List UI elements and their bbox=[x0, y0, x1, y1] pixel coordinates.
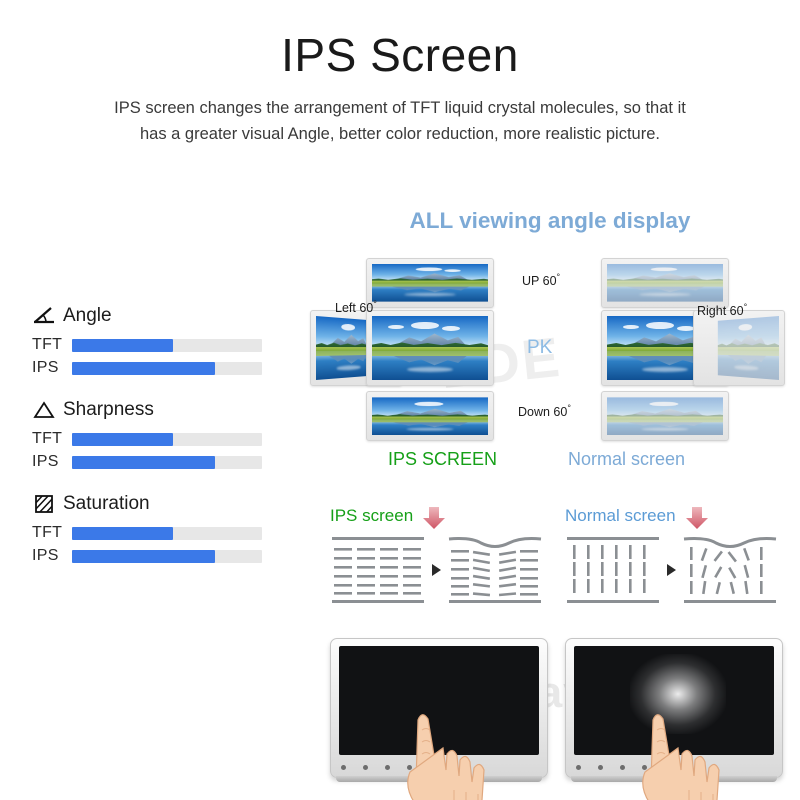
bar-track bbox=[72, 433, 262, 446]
bar-fill bbox=[72, 550, 215, 563]
triangle-icon bbox=[32, 399, 56, 421]
metric-angle: Angle TFT IPS bbox=[32, 305, 282, 377]
metrics-panel: Angle TFT IPS Sharpness bbox=[32, 305, 282, 587]
bar-row-ips: IPS bbox=[32, 453, 282, 471]
landscape-image bbox=[718, 316, 779, 380]
screen-up bbox=[601, 258, 729, 308]
viewing-angle-heading: ALL viewing angle display bbox=[330, 208, 770, 234]
bar-track bbox=[72, 527, 262, 540]
molecule-before bbox=[330, 533, 426, 607]
bar-track bbox=[72, 456, 262, 469]
bar-label: IPS bbox=[32, 453, 72, 471]
bar-fill bbox=[72, 527, 173, 540]
hand-pointing-icon bbox=[392, 690, 512, 800]
scattered-molecules-icon bbox=[682, 533, 778, 607]
molecule-panel-ips: IPS screen bbox=[330, 505, 555, 625]
caption-ips-screen: IPS SCREEN bbox=[388, 449, 497, 470]
play-arrow-icon bbox=[432, 564, 441, 576]
molecule-header: Normal screen bbox=[565, 505, 790, 531]
down-arrow-icon bbox=[684, 506, 710, 530]
curved-molecules-icon bbox=[447, 533, 543, 607]
molecule-diagram bbox=[565, 533, 790, 607]
screen-up bbox=[366, 258, 494, 308]
device-button[interactable] bbox=[620, 765, 625, 770]
bar-row-tft: TFT bbox=[32, 430, 282, 448]
molecule-title: Normal screen bbox=[565, 506, 676, 526]
down-arrow-icon bbox=[421, 506, 447, 530]
bar-fill bbox=[72, 456, 215, 469]
device-button[interactable] bbox=[341, 765, 346, 770]
ips-screen-infographic: IPS Screen IPS screen changes the arrang… bbox=[0, 0, 800, 800]
hatch-square-icon bbox=[32, 493, 56, 515]
normal-device bbox=[565, 638, 783, 778]
caption-normal-screen: Normal screen bbox=[568, 449, 685, 470]
bar-row-ips: IPS bbox=[32, 359, 282, 377]
bar-row-ips: IPS bbox=[32, 547, 282, 565]
ips-screen-cross bbox=[310, 258, 550, 438]
bar-fill bbox=[72, 339, 173, 352]
metric-header: Sharpness bbox=[32, 399, 282, 421]
landscape-image bbox=[372, 264, 488, 302]
metric-saturation: Saturation TFT IPS bbox=[32, 493, 282, 565]
molecule-header: IPS screen bbox=[330, 505, 555, 531]
metric-label: Sharpness bbox=[63, 399, 154, 421]
metric-header: Angle bbox=[32, 305, 282, 327]
molecule-title: IPS screen bbox=[330, 506, 413, 526]
molecule-diagram bbox=[330, 533, 555, 607]
angle-icon bbox=[32, 305, 56, 327]
screen-down bbox=[601, 391, 729, 441]
landscape-image bbox=[372, 316, 488, 380]
molecule-panel-normal: Normal screen bbox=[565, 505, 790, 625]
page-title: IPS Screen bbox=[0, 28, 800, 82]
bar-track bbox=[72, 339, 262, 352]
bar-label: TFT bbox=[32, 524, 72, 542]
horizontal-molecules-icon bbox=[330, 533, 426, 607]
bar-label: TFT bbox=[32, 336, 72, 354]
play-arrow-icon bbox=[667, 564, 676, 576]
label-left-60: Left 60° bbox=[335, 299, 377, 315]
screen-right bbox=[693, 310, 785, 386]
device-button[interactable] bbox=[576, 765, 581, 770]
bar-track bbox=[72, 550, 262, 563]
label-right-60: Right 60° bbox=[697, 302, 747, 318]
ips-device bbox=[330, 638, 548, 778]
metric-sharpness: Sharpness TFT IPS bbox=[32, 399, 282, 471]
landscape-image bbox=[372, 397, 488, 435]
molecule-after bbox=[682, 533, 778, 607]
screen-down bbox=[366, 391, 494, 441]
metric-label: Angle bbox=[63, 305, 112, 327]
device-button[interactable] bbox=[385, 765, 390, 770]
bar-label: TFT bbox=[32, 430, 72, 448]
landscape-image bbox=[607, 264, 723, 302]
bar-track bbox=[72, 362, 262, 375]
vertical-molecules-icon bbox=[565, 533, 661, 607]
bar-row-tft: TFT bbox=[32, 524, 282, 542]
molecule-after bbox=[447, 533, 543, 607]
page-description: IPS screen changes the arrangement of TF… bbox=[100, 96, 700, 147]
device-button[interactable] bbox=[363, 765, 368, 770]
bar-fill bbox=[72, 433, 173, 446]
normal-screen-cross bbox=[545, 258, 785, 438]
landscape-image bbox=[607, 397, 723, 435]
bar-label: IPS bbox=[32, 359, 72, 377]
screen-center bbox=[366, 310, 494, 386]
device-button[interactable] bbox=[598, 765, 603, 770]
hand-pointing-icon bbox=[627, 690, 747, 800]
molecule-before bbox=[565, 533, 661, 607]
metric-label: Saturation bbox=[63, 493, 150, 515]
bar-row-tft: TFT bbox=[32, 336, 282, 354]
bar-fill bbox=[72, 362, 215, 375]
metric-header: Saturation bbox=[32, 493, 282, 515]
bar-label: IPS bbox=[32, 547, 72, 565]
